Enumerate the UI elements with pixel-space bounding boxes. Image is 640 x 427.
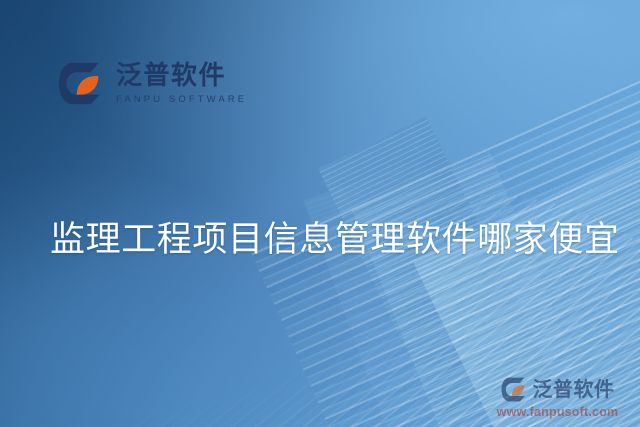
watermark-brand-name: 泛普软件 [533,380,615,400]
watermark: 泛普软件 www.fanpusoft.com [485,376,630,419]
fanpu-logo-mark-icon [58,60,105,107]
brand-name-cn: 泛普软件 [116,62,247,89]
watermark-url: www.fanpusoft.com [497,405,619,419]
brand-wordmark: 泛普软件 FANPU SOFTWARE [116,62,247,104]
fanpu-logo-mark-icon [501,376,528,403]
brand-logo-lockup[interactable]: 泛普软件 FANPU SOFTWARE [58,60,247,107]
brand-name-en: FANPU SOFTWARE [116,94,247,105]
watermark-logo-row: 泛普软件 [501,376,615,403]
page-title: 监理工程项目信息管理软件哪家便宜 [50,220,610,261]
banner-root: 泛普软件 FANPU SOFTWARE 监理工程项目信息管理软件哪家便宜 泛普软… [0,0,640,427]
